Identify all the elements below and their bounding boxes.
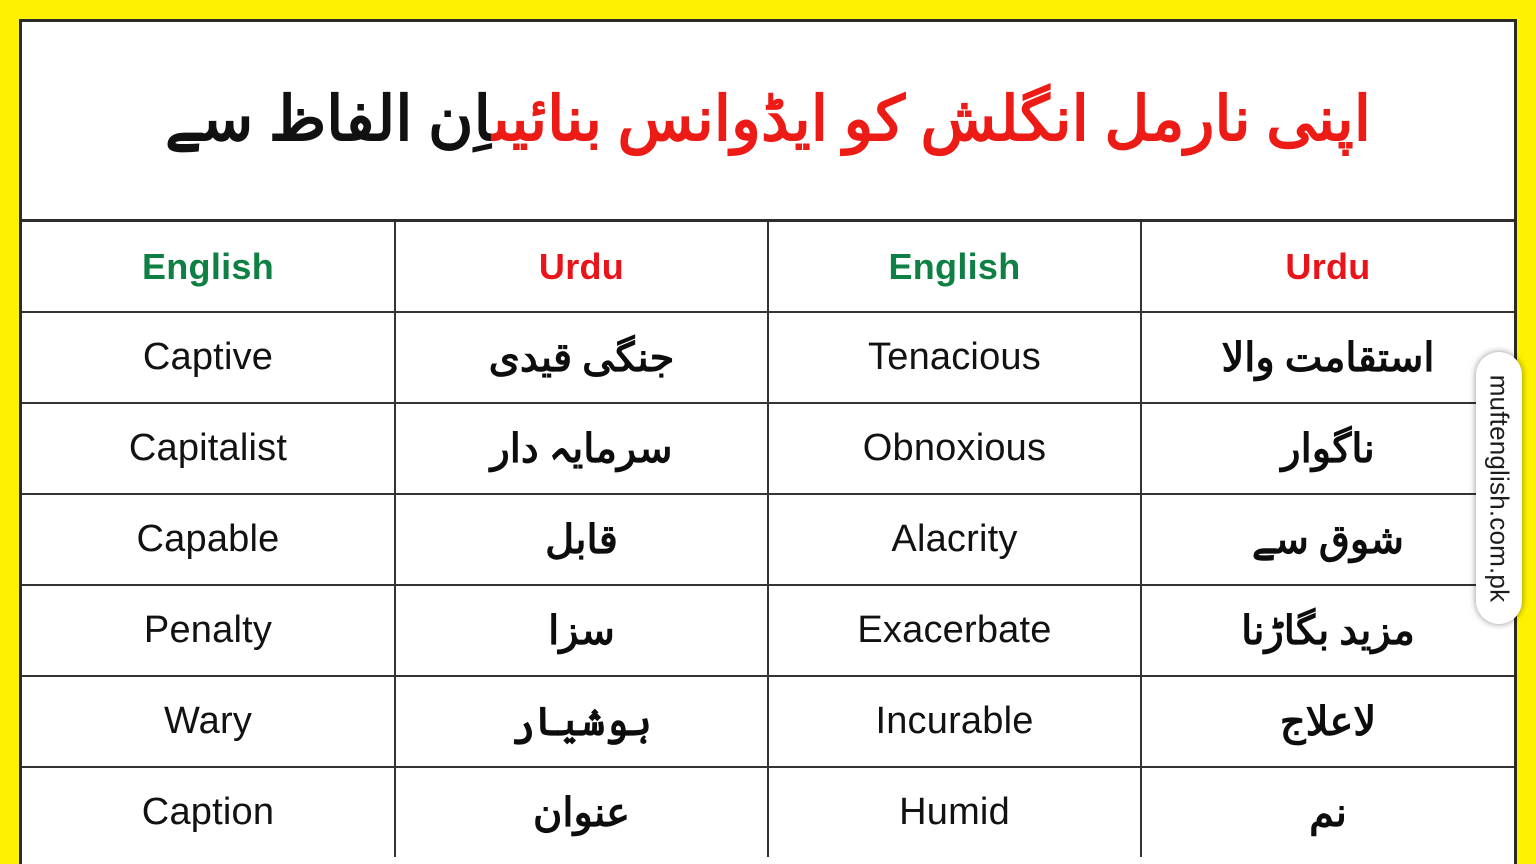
table-row: Wary ہوشیار Incurable لاعلاج (22, 676, 1514, 767)
content-panel: اپنی نارمل انگلش کو ایڈوانس بنائیںاِن ال… (19, 19, 1517, 864)
cell-english-right: Obnoxious (768, 403, 1141, 494)
cell-urdu-right: ناگوار (1141, 403, 1514, 494)
cell-urdu-left: سرمایہ دار (395, 403, 768, 494)
cell-urdu-right: شوق سے (1141, 494, 1514, 585)
cell-english-right: Humid (768, 767, 1141, 857)
watermark-text: muftenglish.com.pk (1484, 374, 1515, 602)
table-row: Capable قابل Alacrity شوق سے (22, 494, 1514, 585)
vocabulary-table: English Urdu English Urdu Captive جنگی ق… (22, 219, 1514, 857)
table-row: Caption عنوان Humid نم (22, 767, 1514, 857)
cell-urdu-left: قابل (395, 494, 768, 585)
poster-canvas: اپنی نارمل انگلش کو ایڈوانس بنائیںاِن ال… (0, 0, 1536, 864)
cell-urdu-left: جنگی قیدی (395, 312, 768, 403)
cell-urdu-right: مزید بگاڑنا (1141, 585, 1514, 676)
cell-english-left: Wary (22, 676, 395, 767)
table-header: English Urdu English Urdu (22, 221, 1514, 313)
cell-english-right: Tenacious (768, 312, 1141, 403)
column-header-english-2: English (768, 221, 1141, 313)
column-header-english-1: English (22, 221, 395, 313)
headline-red-part: اپنی نارمل انگلش کو ایڈوانس بنائیں (492, 86, 1370, 154)
cell-english-left: Capitalist (22, 403, 395, 494)
cell-english-left: Penalty (22, 585, 395, 676)
cell-english-right: Incurable (768, 676, 1141, 767)
cell-urdu-left: سزا (395, 585, 768, 676)
headline-text: اپنی نارمل انگلش کو ایڈوانس بنائیںاِن ال… (165, 80, 1371, 162)
table-row: Penalty سزا Exacerbate مزید بگاڑنا (22, 585, 1514, 676)
cell-english-left: Caption (22, 767, 395, 857)
table-row: Capitalist سرمایہ دار Obnoxious ناگوار (22, 403, 1514, 494)
cell-urdu-right: لاعلاج (1141, 676, 1514, 767)
cell-english-right: Exacerbate (768, 585, 1141, 676)
column-header-urdu-2: Urdu (1141, 221, 1514, 313)
table-body: Captive جنگی قیدی Tenacious استقامت والا… (22, 312, 1514, 857)
cell-english-left: Captive (22, 312, 395, 403)
cell-urdu-right: استقامت والا (1141, 312, 1514, 403)
table-row: Captive جنگی قیدی Tenacious استقامت والا (22, 312, 1514, 403)
cell-english-right: Alacrity (768, 494, 1141, 585)
headline: اپنی نارمل انگلش کو ایڈوانس بنائیںاِن ال… (22, 22, 1514, 219)
cell-english-left: Capable (22, 494, 395, 585)
cell-urdu-left: عنوان (395, 767, 768, 857)
cell-urdu-right: نم (1141, 767, 1514, 857)
headline-black-part: اِن الفاظ سے (165, 86, 492, 154)
cell-urdu-left: ہوشیار (395, 676, 768, 767)
watermark-tab: muftenglish.com.pk (1476, 352, 1522, 624)
column-header-urdu-1: Urdu (395, 221, 768, 313)
table-header-row: English Urdu English Urdu (22, 221, 1514, 313)
